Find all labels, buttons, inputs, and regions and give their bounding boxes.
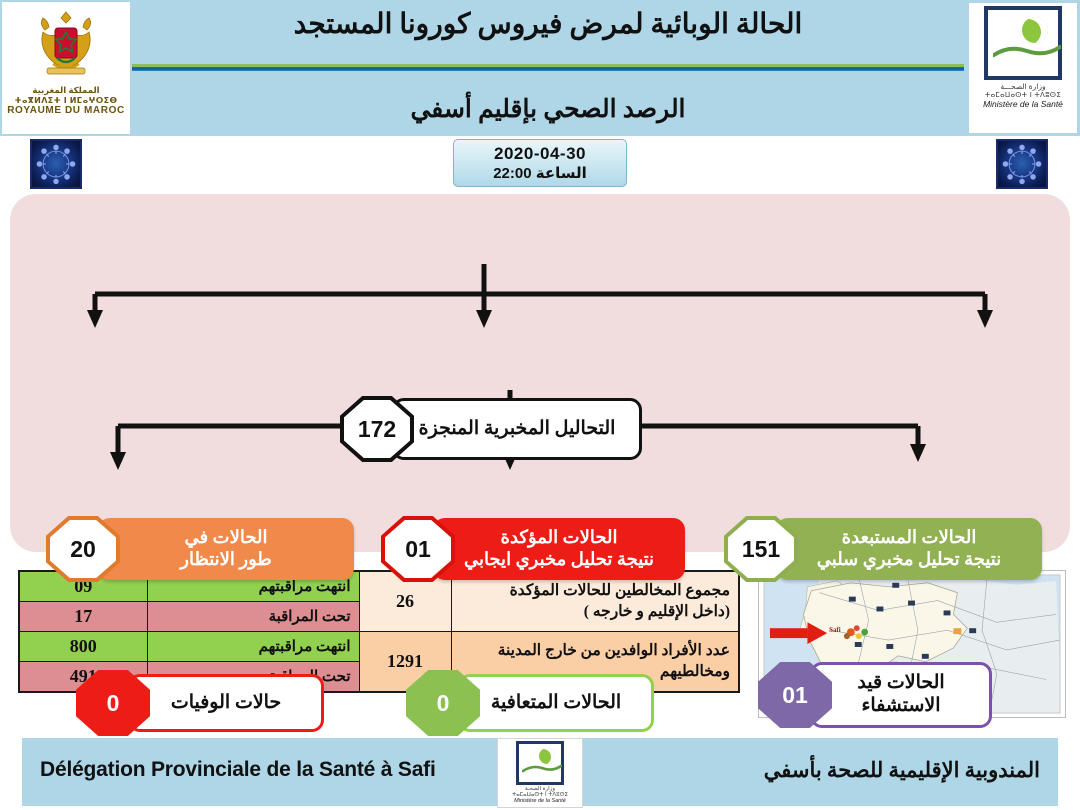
morocco-coat-of-arms-icon — [31, 8, 101, 84]
confirmed-cases-label-line2: نتيجة تحليل مخبري ايجابي — [464, 549, 654, 569]
row0-sub1-label: تحت المراقبة — [147, 602, 359, 632]
report-date: 2020-04-30 — [494, 144, 586, 164]
ministry-label-tifinagh: ⵜⴰⵎⴰⵡⴰⵙⵜ ⵏ ⵜⴷⵓⵙⵉ — [985, 91, 1061, 99]
ministry-wave-icon — [993, 44, 1061, 60]
tests-performed-value: 172 — [340, 396, 414, 462]
page-subtitle: الرصد الصحي بإقليم أسفي — [132, 94, 964, 124]
ministry-label-arabic: وزارة الصحـــة — [1000, 82, 1045, 91]
footer-ministry-logo: وزارة الصحـة ⵜⴰⵎⴰⵡⴰⵙⵜ ⵏ ⵜⴷⵓⵙⵉ Ministère … — [497, 738, 583, 808]
header-title-area: الحالة الوبائية لمرض فيروس كورونا المستج… — [132, 0, 964, 136]
pending-cases-count-badge: 20 — [46, 516, 120, 582]
row0-description-line1: مجموع المخالطين للحالات المؤكدة — [510, 582, 730, 599]
row0-description: مجموع المخالطين للحالات المؤكدة (داخل ال… — [451, 571, 739, 632]
confirmed-cases-label: الحالات المؤكدة نتيجة تحليل مخبري ايجابي — [433, 518, 685, 580]
hospitalized-label-line1: الحالات قيد — [857, 672, 944, 693]
page-header: المملكة المغربية ⵜⴰⴳⵍⴷⵉⵜ ⵏ ⵍⵎⴰⵖⵔⵉⴱ ROYAU… — [0, 0, 1080, 136]
kingdom-label-tifinagh: ⵜⴰⴳⵍⴷⵉⵜ ⵏ ⵍⵎⴰⵖⵔⵉⴱ — [15, 96, 118, 105]
kingdom-label-arabic: المملكة المغربية — [32, 85, 99, 96]
row0-sub1-value: 17 — [19, 602, 147, 632]
coronavirus-icon-left — [30, 139, 82, 189]
deaths-label: حالات الوفيات — [128, 674, 324, 732]
confirmed-cases-value: 01 — [381, 516, 455, 582]
kingdom-label-french: ROYAUME DU MAROC — [7, 105, 125, 116]
row1-description-line1: عدد الأفراد الوافدين من خارج المدينة — [498, 642, 730, 659]
row1-sub0-label: انتهت مراقبتهم — [147, 632, 359, 662]
excluded-cases-count-badge: 151 — [724, 516, 798, 582]
excluded-cases-label-line2: نتيجة تحليل مخبري سلبي — [817, 549, 1001, 569]
recovered-value: 0 — [406, 670, 480, 736]
pending-cases-label-line1: الحالات في — [185, 527, 268, 547]
map-city-label: Safi — [829, 627, 841, 634]
hospitalized-label-line2: الاستشفاء — [861, 695, 940, 716]
node-hospitalized: 01 الحالات قيد الاستشفاء — [758, 662, 992, 728]
report-time: الساعة 22:00 — [493, 164, 587, 182]
excluded-cases-label: الحالات المستبعدة نتيجة تحليل مخبري سلبي — [776, 518, 1042, 580]
row1-sub0-value: 800 — [19, 632, 147, 662]
coronavirus-icon-right — [996, 139, 1048, 189]
node-recovered: 0 الحالات المتعافية — [406, 670, 654, 736]
report-date-box: 2020-04-30 الساعة 22:00 — [453, 139, 627, 187]
excluded-cases-value: 151 — [724, 516, 798, 582]
tests-performed-count-badge: 172 — [340, 396, 414, 462]
ministry-logo-icon — [984, 6, 1062, 80]
hospitalized-value: 01 — [758, 662, 832, 728]
pending-cases-value: 20 — [46, 516, 120, 582]
ministry-label-french: Ministère de la Santé — [983, 99, 1063, 109]
footer-french-label: Délégation Provinciale de la Santé à Saf… — [40, 758, 520, 782]
node-excluded-cases: 151 الحالات المستبعدة نتيجة تحليل مخبري … — [724, 516, 1042, 582]
header-divider — [132, 64, 964, 71]
page-footer: Délégation Provinciale de la Santé à Saf… — [0, 736, 1080, 810]
hospitalized-count-badge: 01 — [758, 662, 832, 728]
node-pending-cases: 20 الحالات في طور الانتظار — [46, 516, 354, 582]
excluded-cases-label-line1: الحالات المستبعدة — [842, 527, 977, 547]
flowchart-connectors — [10, 194, 1070, 552]
footer-arabic-label: المندوبية الإقليمية للصحة بأسفي — [640, 758, 1040, 783]
node-confirmed-cases: 01 الحالات المؤكدة نتيجة تحليل مخبري ايج… — [381, 516, 685, 582]
pending-cases-label: الحالات في طور الانتظار — [98, 518, 354, 580]
deaths-count-badge: 0 — [76, 670, 150, 736]
footer-wave-icon — [522, 764, 562, 774]
morocco-kingdom-logo: المملكة المغربية ⵜⴰⴳⵍⴷⵉⵜ ⵏ ⵍⵎⴰⵖⵔⵉⴱ ROYAU… — [2, 2, 130, 134]
tests-performed-label: التحاليل المخبرية المنجزة — [392, 398, 642, 460]
recovered-label: الحالات المتعافية — [458, 674, 654, 732]
hospitalized-label: الحالات قيد الاستشفاء — [810, 662, 992, 728]
ministry-of-health-logo: وزارة الصحـــة ⵜⴰⵎⴰⵡⴰⵙⵜ ⵏ ⵜⴷⵓⵙⵉ Ministèr… — [969, 3, 1077, 133]
footer-ministry-logo-icon — [516, 741, 564, 785]
pending-cases-label-line2: طور الانتظار — [180, 549, 271, 569]
recovered-count-badge: 0 — [406, 670, 480, 736]
row1-description-line2: ومخالطيهم — [660, 663, 730, 680]
deaths-value: 0 — [76, 670, 150, 736]
epidemic-flowchart-panel: 172 التحاليل المخبرية المنجزة 20 الحالات… — [10, 194, 1070, 552]
node-tests-performed: 172 التحاليل المخبرية المنجزة — [340, 396, 642, 462]
confirmed-cases-count-badge: 01 — [381, 516, 455, 582]
table-row: 800 انتهت مراقبتهم 1291 عدد الأفراد الوا… — [19, 632, 739, 662]
date-strip: 2020-04-30 الساعة 22:00 — [0, 136, 1080, 192]
node-deaths: 0 حالات الوفيات — [76, 670, 324, 736]
row0-description-line2: (داخل الإقليم و خارجه ) — [584, 603, 730, 620]
confirmed-cases-label-line1: الحالات المؤكدة — [501, 527, 618, 547]
footer-logo-label-french: Ministère de la Santé — [514, 798, 566, 804]
page-title: الحالة الوبائية لمرض فيروس كورونا المستج… — [132, 10, 964, 41]
